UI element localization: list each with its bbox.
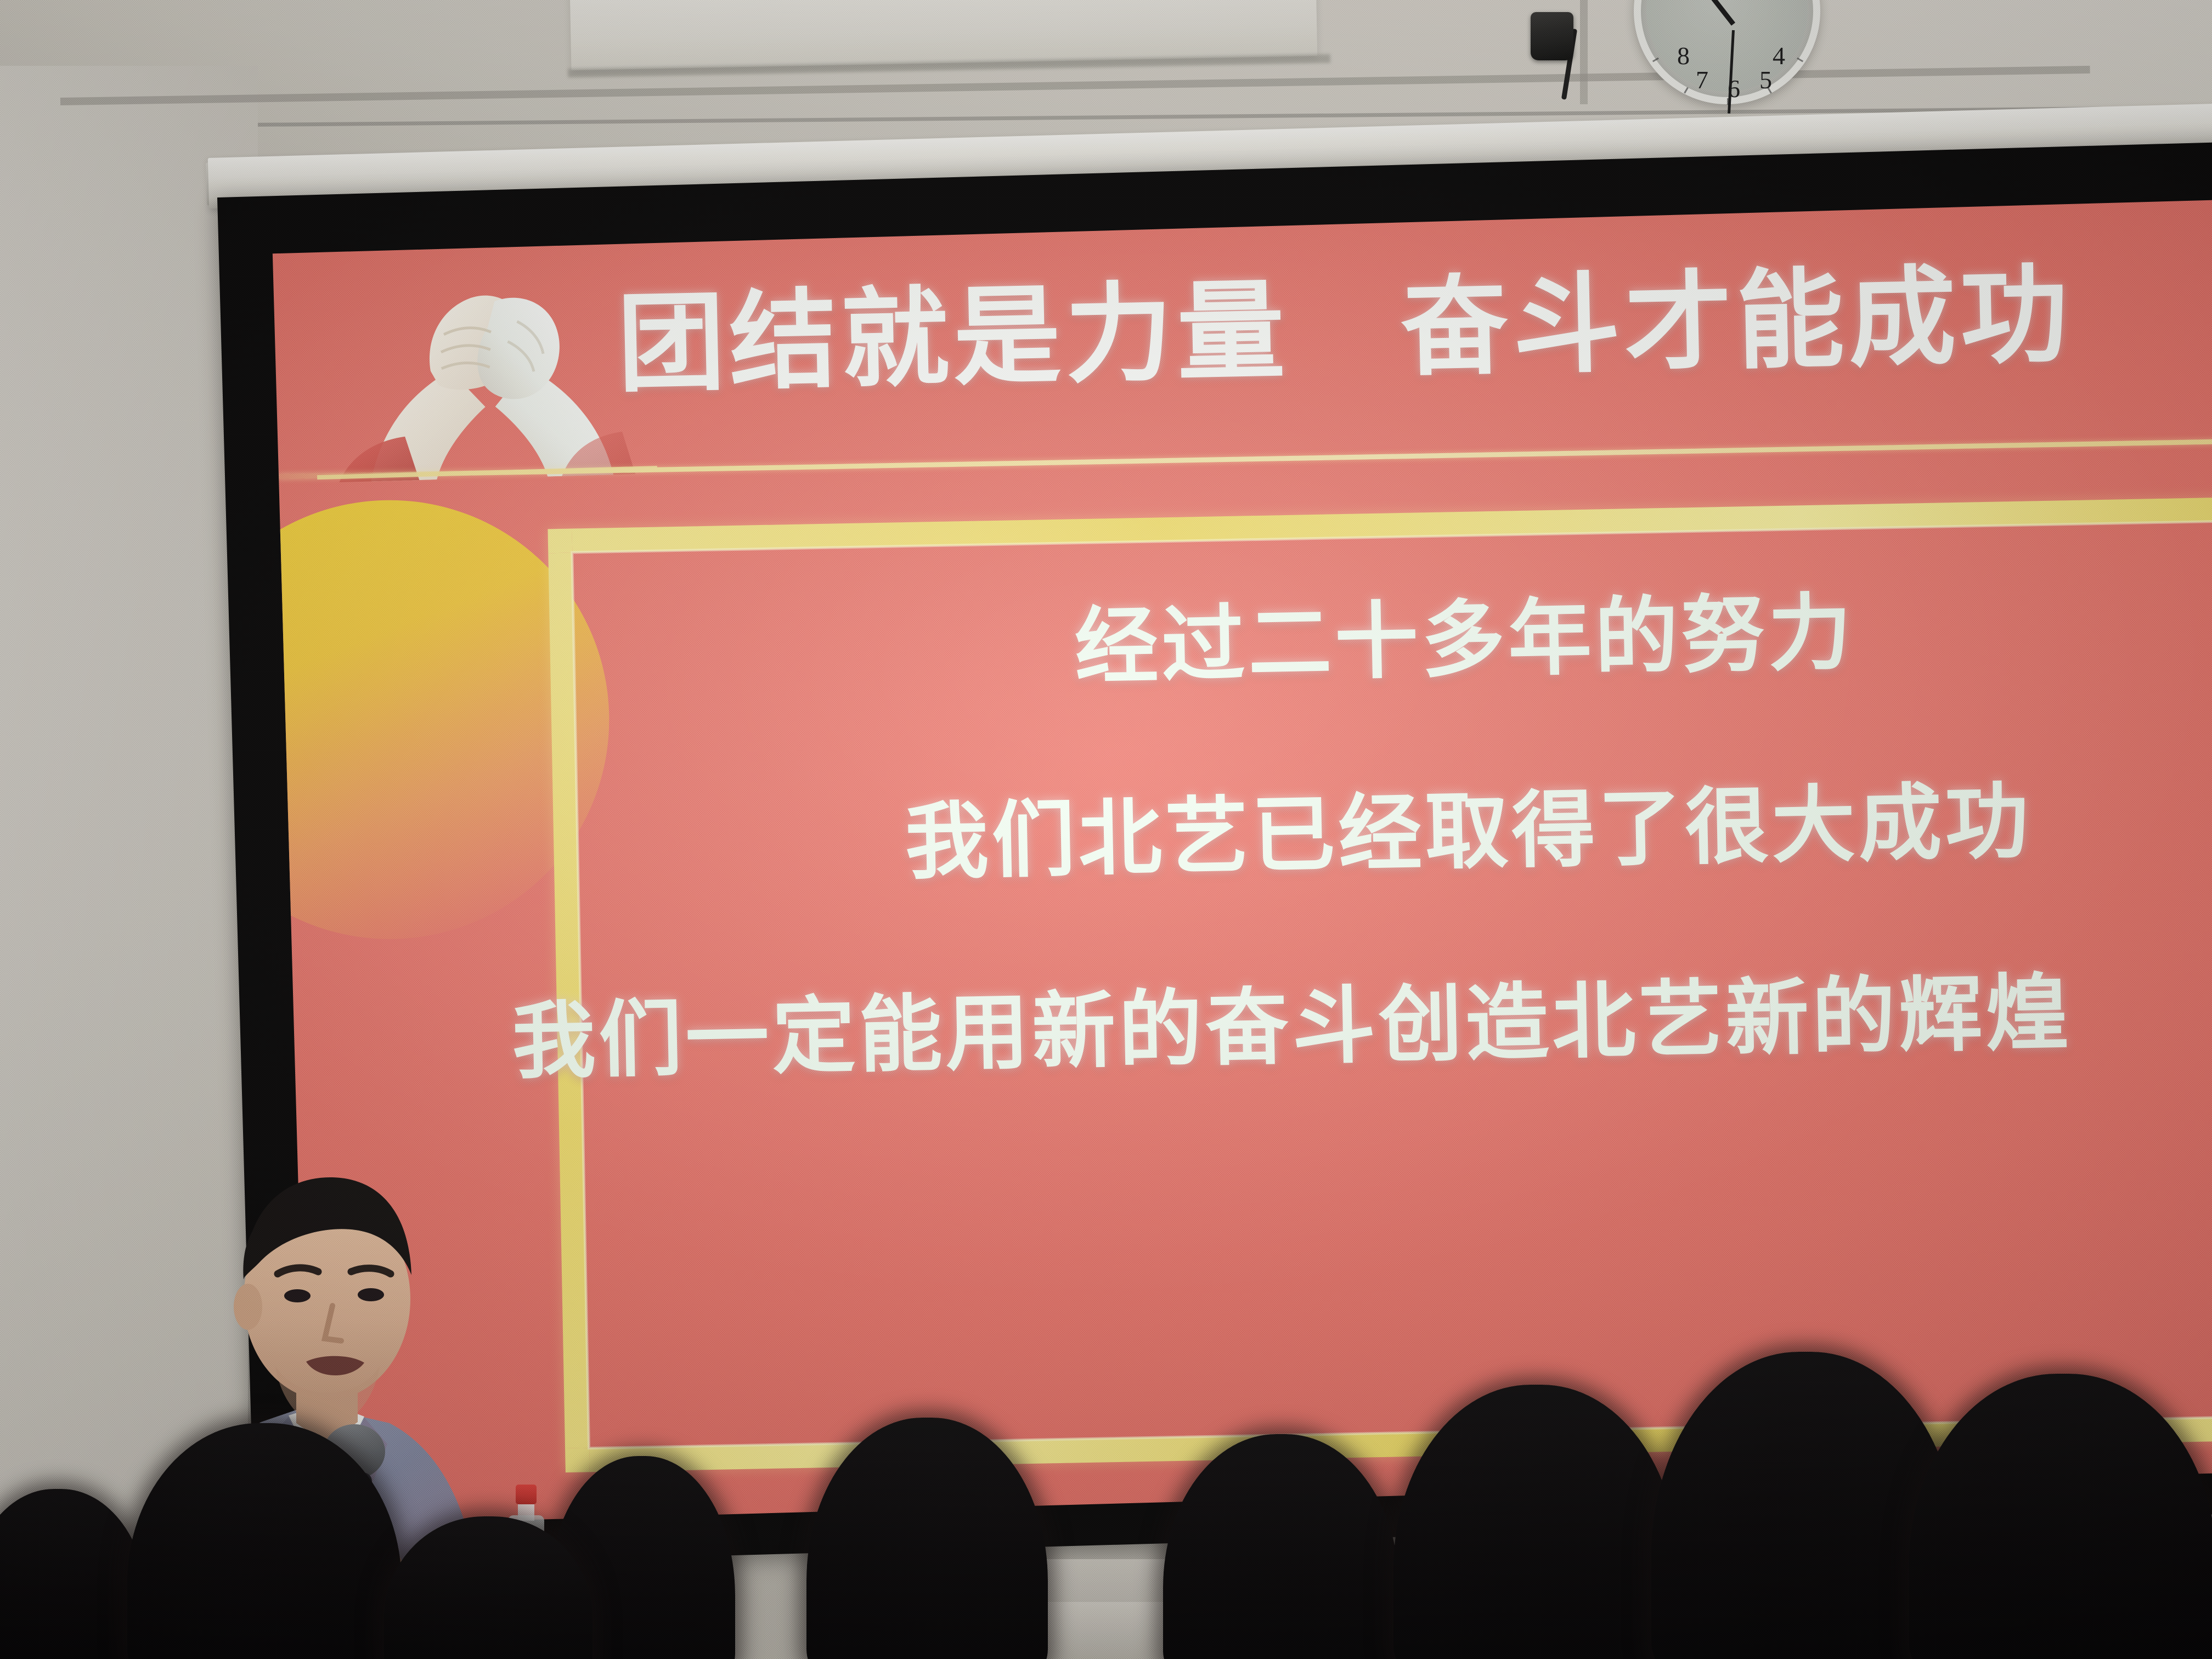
audience-head <box>0 1489 148 1659</box>
wall-panel-edge <box>1580 0 1588 104</box>
slide-body: 经过二十多年的努力 我们北艺已经取得了很大成功 我们一定能用新的奋斗创造北艺新的… <box>548 544 2212 1094</box>
presentation-slide: 团结就是力量 奋斗才能成功 经过二十多年的努力 我们北艺已经取得了很大成功 我们… <box>273 199 2212 1526</box>
audience-row <box>0 1344 2212 1659</box>
clock-numeral-4: 4 <box>1773 41 1785 70</box>
clock-tick <box>1652 58 1659 63</box>
clock-numeral-8: 8 <box>1677 41 1690 70</box>
ceiling-sensor-icon <box>1531 12 1573 60</box>
clock-numeral-5: 5 <box>1759 65 1772 94</box>
slide-title: 团结就是力量 奋斗才能成功 <box>472 256 2212 404</box>
photo-scene: 4 5 6 7 8 <box>0 0 2212 1659</box>
audience-head <box>1163 1434 1399 1659</box>
slide-body-line-2: 我们北艺已经取得了很大成功 <box>551 747 2212 902</box>
audience-head <box>806 1418 1048 1659</box>
clock-numeral-7: 7 <box>1696 65 1708 94</box>
clock-tick <box>1684 87 1689 94</box>
clock-tick <box>1797 58 1803 63</box>
audience-head <box>1393 1385 1679 1659</box>
slide-body-line-1: 经过二十多年的努力 <box>548 555 2212 710</box>
audience-head <box>127 1423 402 1659</box>
audience-head <box>1909 1374 2212 1659</box>
